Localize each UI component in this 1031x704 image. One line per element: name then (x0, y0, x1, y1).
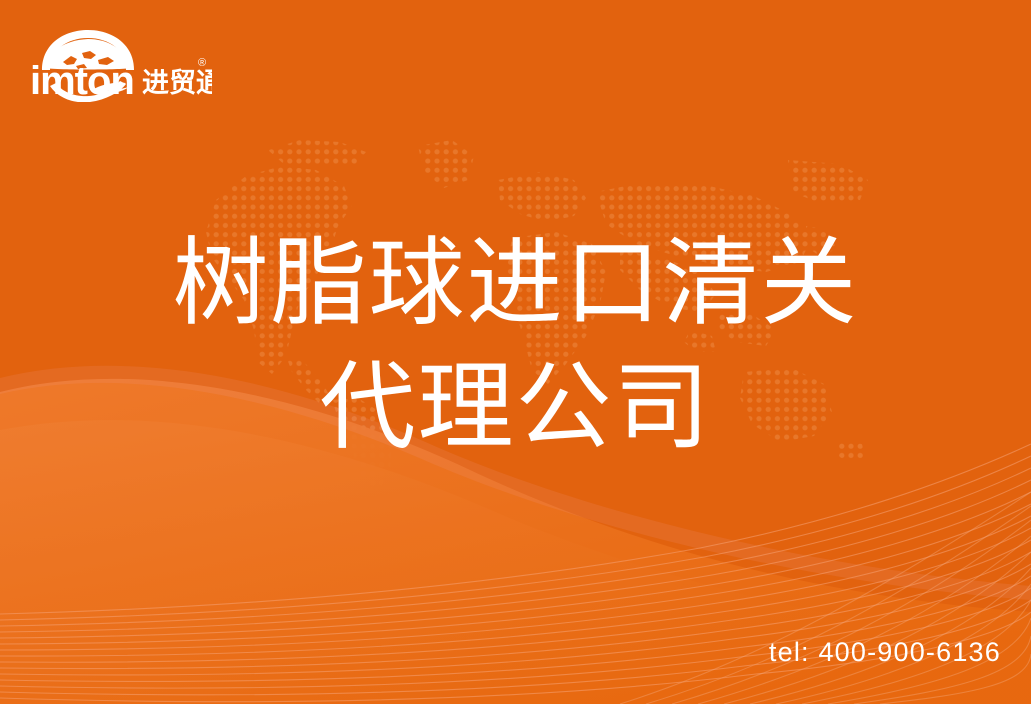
logo-trademark-symbol: ® (198, 57, 206, 69)
logo-chinese-name: 进贸通 (142, 68, 212, 99)
headline-line-1: 树脂球进口清关 (0, 222, 1031, 346)
logo-wordmark: imton (30, 59, 134, 102)
contact-phone[interactable]: tel: 400-900-6136 (769, 637, 1001, 668)
promo-banner: imton 进贸通 ® 树脂球进口清关 代理公司 tel: 400-900-61… (0, 0, 1031, 704)
company-logo[interactable]: imton 进贸通 ® (30, 26, 212, 102)
headline-line-2: 代理公司 (0, 346, 1031, 470)
page-title: 树脂球进口清关 代理公司 (0, 222, 1031, 470)
